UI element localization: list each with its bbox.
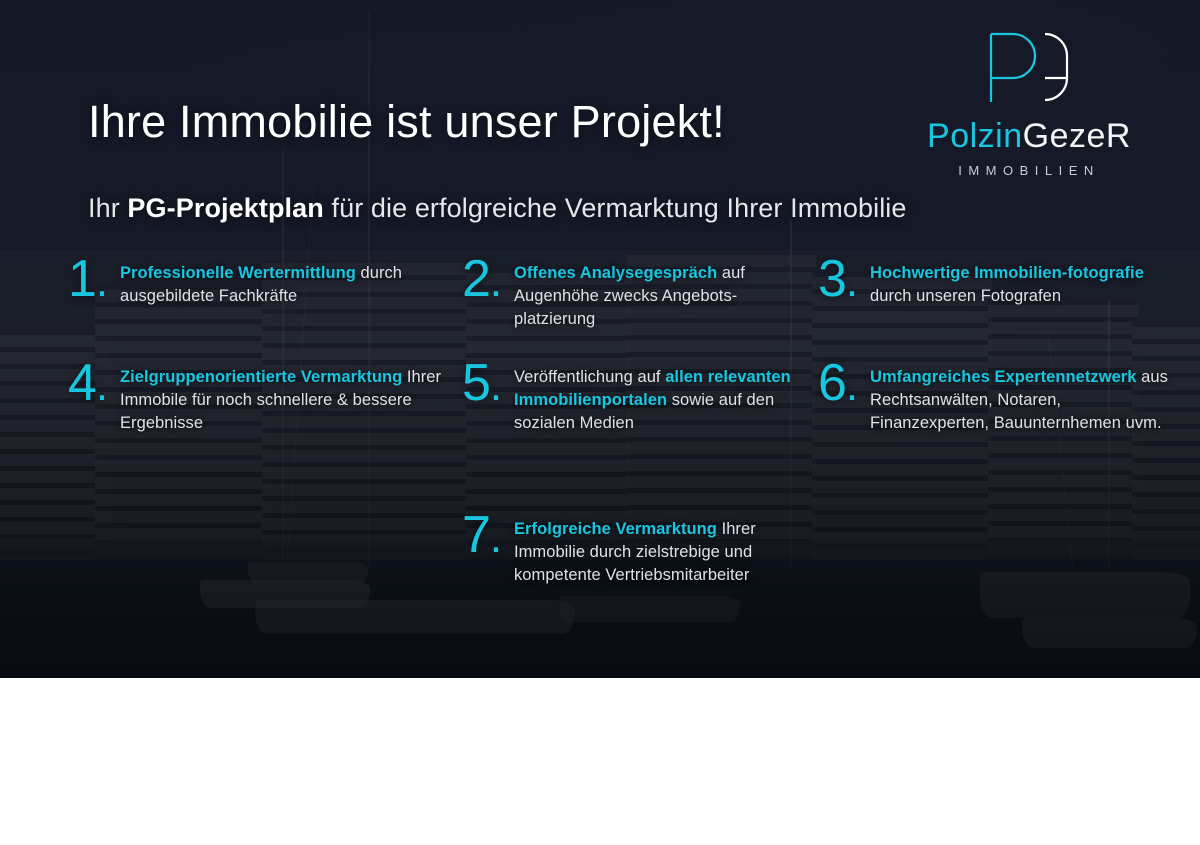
step-item-3: 3. Hochwertige Immobilien-fotografie dur… — [818, 262, 1178, 310]
step-item-4: 4. Zielgruppenorientierte Vermarktung Ih… — [68, 366, 448, 434]
hero-section: Ihre Immobilie ist unser Projekt! Ihr PG… — [0, 0, 1200, 678]
step-bold-1: Professionelle Wertermittlung — [120, 264, 356, 282]
subtitle-pre: Ihr — [88, 193, 127, 223]
marketing-poster: Ihre Immobilie ist unser Projekt! Ihr PG… — [0, 0, 1200, 845]
step-number-2: 2. — [462, 256, 514, 304]
step-number-value: 6 — [818, 354, 846, 412]
step-pre-5: Veröffentlichung auf — [514, 368, 665, 386]
step-number-value: 2 — [462, 250, 490, 308]
step-bold-3: Hochwertige Immobilien-fotografie — [870, 264, 1144, 282]
step-number-dot: . — [846, 257, 857, 306]
step-number-dot: . — [490, 257, 501, 306]
step-text-2: Offenes Analysegespräch auf Augenhöhe zw… — [514, 262, 812, 330]
step-number-4: 4. — [68, 360, 120, 408]
subtitle-bold: PG-Projektplan — [127, 193, 323, 223]
logo-header: PolzinGezeR IMMOBILIEN — [884, 30, 1174, 178]
logo-wordmark: PolzinGezeR — [884, 119, 1174, 155]
logo-word-polzin: Polzin — [927, 117, 1023, 155]
logo-subtitle: IMMOBILIEN — [884, 163, 1174, 178]
step-number-6: 6. — [818, 360, 870, 408]
step-text-5: Veröffentlichung auf allen relevanten Im… — [514, 366, 812, 434]
step-bold-7: Erfolgreiche Vermarktung — [514, 520, 717, 538]
step-number-3: 3. — [818, 256, 870, 304]
step-bold-2: Offenes Analysegespräch — [514, 264, 717, 282]
step-number-1: 1. — [68, 256, 120, 304]
step-number-dot: . — [96, 361, 107, 410]
subtitle-post: für die erfolgreiche Vermarktung Ihrer I… — [324, 193, 907, 223]
step-number-value: 5 — [462, 354, 490, 412]
step-bold-4: Zielgruppenorientierte Vermarktung — [120, 368, 402, 386]
step-item-6: 6. Umfangreiches Expertennetzwerk aus Re… — [818, 366, 1178, 434]
step-text-1: Professionelle Wertermittlung durch ausg… — [120, 262, 448, 308]
step-item-5: 5. Veröffentlichung auf allen relevanten… — [462, 366, 812, 434]
step-number-5: 5. — [462, 360, 514, 408]
step-number-value: 7 — [462, 506, 490, 564]
step-number-value: 1 — [68, 250, 96, 308]
step-text-3: Hochwertige Immobilien-fotografie durch … — [870, 262, 1178, 308]
pg-monogram-icon — [884, 30, 1174, 113]
step-text-4: Zielgruppenorientierte Vermarktung Ihrer… — [120, 366, 448, 434]
step-number-value: 3 — [818, 250, 846, 308]
step-item-2: 2. Offenes Analysegespräch auf Augenhöhe… — [462, 262, 812, 330]
page-title: Ihre Immobilie ist unser Projekt! — [88, 96, 725, 148]
step-number-dot: . — [490, 361, 501, 410]
step-number-value: 4 — [68, 354, 96, 412]
step-number-dot: . — [846, 361, 857, 410]
step-text-6: Umfangreiches Expertennetzwerk aus Recht… — [870, 366, 1178, 434]
subtitle: Ihr PG-Projektplan für die erfolgreiche … — [88, 193, 907, 224]
step-rest-3: durch unseren Fotografen — [870, 287, 1061, 305]
step-number-7: 7. — [462, 512, 514, 560]
step-item-1: 1. Professionelle Wertermittlung durch a… — [68, 262, 448, 310]
step-bold-6: Umfangreiches Expertennetzwerk — [870, 368, 1137, 386]
step-item-7: 7. Erfolgreiche Vermarktung Ihrer Immobi… — [462, 518, 812, 586]
logo-word-gezer: GezeR — [1023, 117, 1131, 155]
footer-section: PolzinGezeR IMMOBILIEN Erfolgreich aus T… — [0, 678, 1200, 845]
step-number-dot: . — [490, 513, 501, 562]
step-text-7: Erfolgreiche Vermarktung Ihrer Immobilie… — [514, 518, 812, 586]
step-number-dot: . — [96, 257, 107, 306]
